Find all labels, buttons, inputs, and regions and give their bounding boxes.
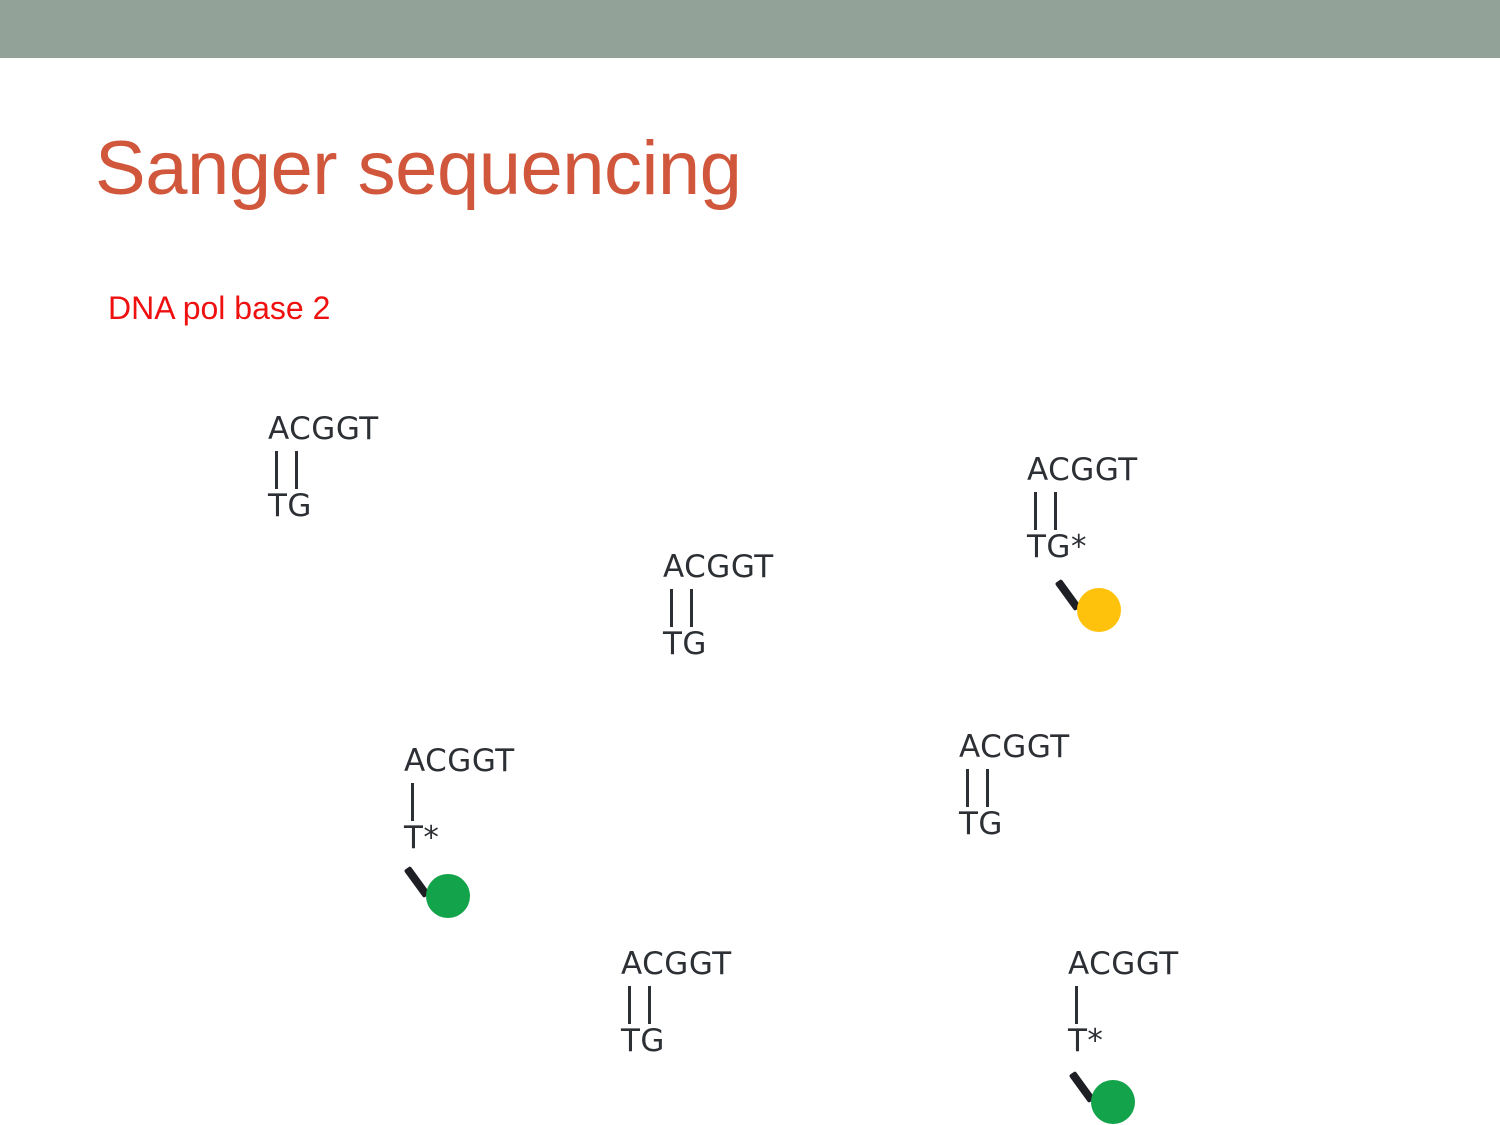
primer-sequence: TG [621, 1026, 732, 1057]
bond-tick [648, 986, 651, 1024]
hydrogen-bonds [963, 763, 1070, 809]
template-sequence: ACGGT [268, 414, 379, 445]
step-label: DNA pol base 2 [108, 289, 330, 327]
dna-strand-group: ACGGT TG [621, 949, 732, 1057]
bond-tick [628, 986, 631, 1024]
primer-sequence: T* [404, 823, 515, 854]
primer-sequence: TG [268, 491, 379, 522]
hydrogen-bonds [408, 777, 515, 823]
hydrogen-bonds [667, 583, 774, 629]
template-sequence: ACGGT [404, 746, 515, 777]
bond-tick [275, 451, 278, 489]
fluorescent-dye-green [426, 874, 470, 918]
bond-tick [1034, 492, 1037, 530]
hydrogen-bonds [625, 980, 732, 1026]
template-sequence: ACGGT [959, 732, 1070, 763]
hydrogen-bonds [1072, 980, 1179, 1026]
template-sequence: ACGGT [1068, 949, 1179, 980]
fluorescent-dye-yellow [1077, 588, 1121, 632]
bond-tick [1075, 986, 1078, 1024]
primer-sequence: TG* [1027, 532, 1138, 563]
template-sequence: ACGGT [621, 949, 732, 980]
dna-strand-group: ACGGT TG [959, 732, 1070, 840]
bond-tick [690, 589, 693, 627]
bond-tick [1054, 492, 1057, 530]
slide-canvas: Sanger sequencing DNA pol base 2 ACGGT T… [0, 0, 1500, 1125]
bond-tick [966, 769, 969, 807]
primer-sequence: TG [959, 809, 1070, 840]
dna-strand-group: ACGGT TG [663, 552, 774, 660]
bond-tick [986, 769, 989, 807]
bond-tick [670, 589, 673, 627]
template-sequence: ACGGT [1027, 455, 1138, 486]
dna-strand-group: ACGGT TG [268, 414, 379, 522]
primer-sequence: T* [1068, 1026, 1179, 1057]
template-sequence: ACGGT [663, 552, 774, 583]
hydrogen-bonds [272, 445, 379, 491]
hydrogen-bonds [1031, 486, 1138, 532]
page-title: Sanger sequencing [95, 124, 741, 214]
dna-strand-group-terminated: ACGGT T* [1068, 949, 1179, 1057]
bond-tick [295, 451, 298, 489]
primer-sequence: TG [663, 629, 774, 660]
dna-strand-group-terminated: ACGGT T* [404, 746, 515, 854]
bond-tick [411, 783, 414, 821]
fluorescent-dye-green [1091, 1080, 1135, 1124]
dna-strand-group-terminated: ACGGT TG* [1027, 455, 1138, 563]
header-bar [0, 0, 1500, 58]
